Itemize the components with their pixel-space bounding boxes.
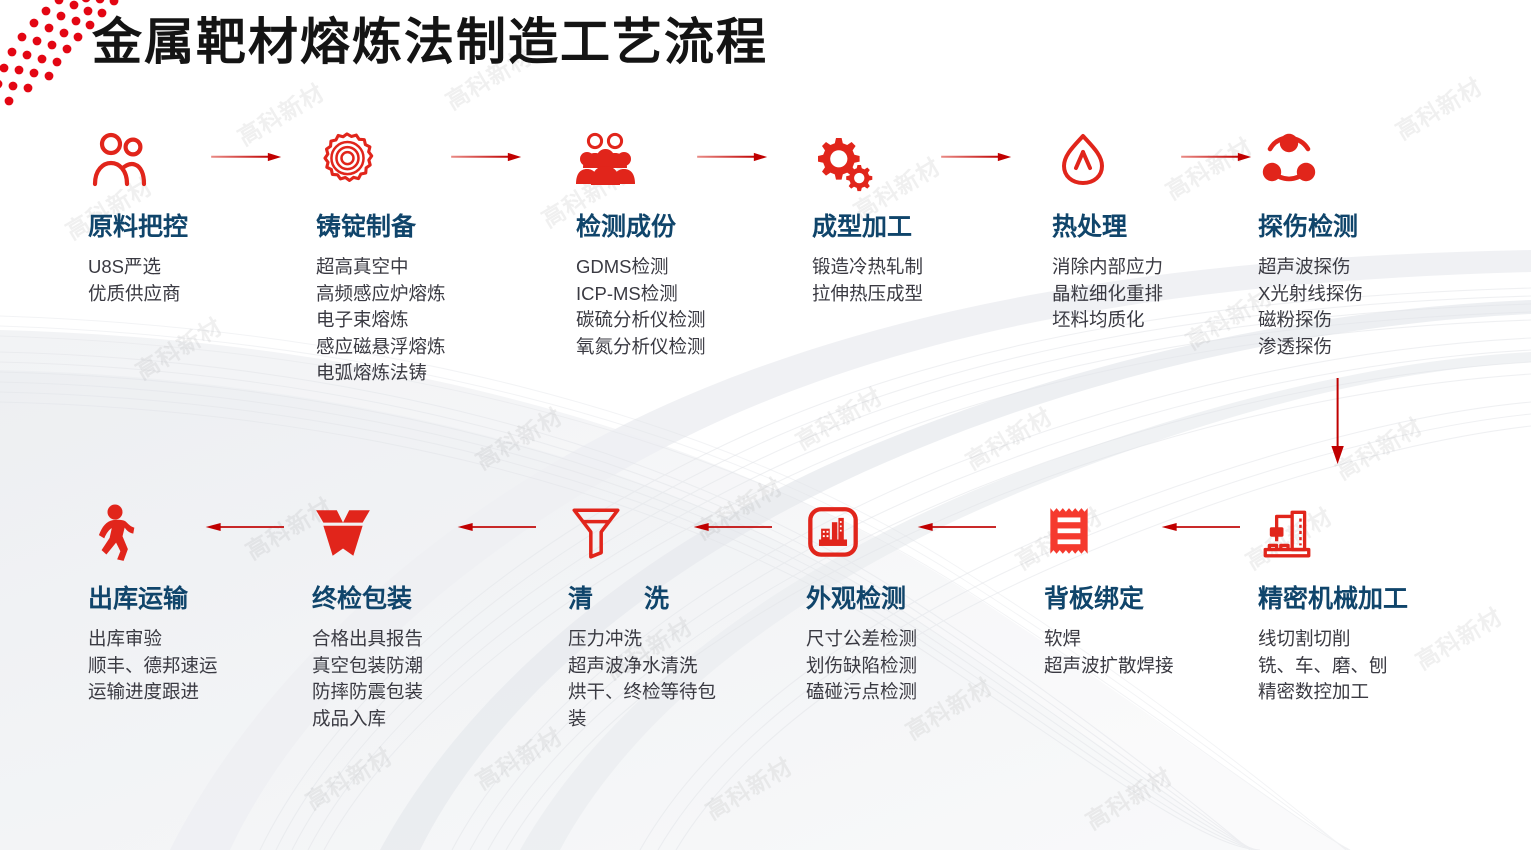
step-precision-machining[interactable]: 精密机械加工 线切割切削 铣、车、磨、刨 精密数控加工: [1258, 500, 1408, 706]
detail-line: 超声波净水清洗: [568, 653, 728, 680]
watermark: 高科新材: [958, 398, 1058, 477]
step-detail-list: 压力冲洗 超声波净水清洗 烘干、终检等待包装: [568, 626, 728, 732]
detail-line: 软焊: [1044, 626, 1174, 653]
detail-line: 磁粉探伤: [1258, 307, 1363, 334]
flowchart-poster: 高科新材 高科新材 高科新材 高科新材 高科新材 高科新材 高科新材 高科新材 …: [0, 0, 1531, 850]
watermark: 高科新材: [468, 718, 568, 797]
step-raw-material-control[interactable]: 原料把控 U8S严选 优质供应商: [88, 128, 188, 307]
detail-line: 电弧熔炼法铸: [316, 360, 446, 387]
factory-in-frame-icon: [806, 500, 917, 562]
step-title: 外观检测: [806, 579, 917, 615]
step-title: 成型加工: [812, 207, 923, 243]
step-backplate-bonding[interactable]: 背板绑定 软焊 超声波扩散焊接: [1044, 500, 1174, 679]
detail-line: 烘干、终检等待包装: [568, 679, 728, 732]
detail-line: 磕碰污点检测: [806, 679, 917, 706]
step-flaw-detection[interactable]: 探伤检测 超声波探伤 X光射线探伤 磁粉探伤 渗透探伤: [1258, 128, 1363, 360]
step-composition-testing[interactable]: 检测成份 GDMS检测 ICP-MS检测 碳硫分析仪检测 氧氮分析仪检测: [576, 128, 706, 360]
detail-line: 超声波扩散焊接: [1044, 653, 1174, 680]
step-detail-list: 尺寸公差检测 划伤缺陷检测 磕碰污点检测: [806, 626, 917, 706]
step-outbound-transport[interactable]: 出库运输 出库审验 顺丰、德邦速运 运输进度跟进: [88, 500, 218, 706]
detail-line: 合格出具报告: [312, 626, 423, 653]
arrow-right-5: [1174, 152, 1260, 162]
detail-line: 成品入库: [312, 706, 423, 733]
detail-line: 坯料均质化: [1052, 307, 1163, 334]
arrow-down-connector: [1325, 378, 1351, 468]
step-title: 出库运输: [88, 579, 218, 615]
step-cleaning[interactable]: 清 洗 压力冲洗 超声波净水清洗 烘干、终检等待包装: [568, 500, 738, 732]
people-group-icon: [576, 128, 706, 190]
detail-line: 渗透探伤: [1258, 334, 1363, 361]
step-title: 终检包装: [312, 579, 423, 615]
detail-line: 氧氮分析仪检测: [576, 334, 706, 361]
detail-line: GDMS检测: [576, 254, 706, 281]
step-title: 探伤检测: [1258, 207, 1363, 243]
funnel-icon: [568, 500, 738, 562]
bonded-plate-icon: [1044, 500, 1174, 562]
share-nodes-icon: [1258, 128, 1363, 190]
watermark: 高科新材: [298, 738, 398, 817]
detail-line: 拉伸热压成型: [812, 281, 923, 308]
step-title: 精密机械加工: [1258, 579, 1408, 615]
arrow-left-2: [908, 522, 1004, 532]
detail-line: 感应磁悬浮熔炼: [316, 334, 446, 361]
step-ingot-preparation[interactable]: 铸锭制备 超高真空中 高频感应炉熔炼 电子束熔炼 感应磁悬浮熔炼 电弧熔炼法铸: [316, 128, 446, 387]
detail-line: 铣、车、磨、刨: [1258, 653, 1408, 680]
arrow-left-4: [448, 522, 544, 532]
detail-line: 顺丰、德邦速运: [88, 653, 218, 680]
watermark: 高科新材: [1158, 128, 1258, 207]
arrow-right-4: [934, 152, 1020, 162]
step-detail-list: 超声波探伤 X光射线探伤 磁粉探伤 渗透探伤: [1258, 254, 1363, 360]
step-detail-list: 出库审验 顺丰、德邦速运 运输进度跟进: [88, 626, 218, 706]
detail-line: 高频感应炉熔炼: [316, 281, 446, 308]
step-detail-list: 消除内部应力 晶粒细化重排 坯料均质化: [1052, 254, 1163, 334]
detail-line: ICP-MS检测: [576, 281, 706, 308]
detail-line: 优质供应商: [88, 281, 188, 308]
detail-line: 尺寸公差检测: [806, 626, 917, 653]
watermark: 高科新材: [1388, 68, 1488, 147]
arrow-right-2: [444, 152, 530, 162]
flame-icon: [1052, 128, 1163, 190]
detail-line: 超声波探伤: [1258, 254, 1363, 281]
step-final-inspection-packing[interactable]: 终检包装 合格出具报告 真空包装防潮 防摔防震包装 成品入库: [312, 500, 423, 732]
watermark: 高科新材: [1408, 598, 1508, 677]
detail-line: 划伤缺陷检测: [806, 653, 917, 680]
detail-line: 锻造冷热轧制: [812, 254, 923, 281]
step-detail-list: 超高真空中 高频感应炉熔炼 电子束熔炼 感应磁悬浮熔炼 电弧熔炼法铸: [316, 254, 446, 387]
step-detail-list: 锻造冷热轧制 拉伸热压成型: [812, 254, 923, 307]
step-appearance-inspection[interactable]: 外观检测 尺寸公差检测 划伤缺陷检测 磕碰污点检测: [806, 500, 917, 706]
cnc-machine-icon: [1258, 500, 1408, 562]
step-title: 背板绑定: [1044, 579, 1174, 615]
detail-line: 晶粒细化重排: [1052, 281, 1163, 308]
step-detail-list: GDMS检测 ICP-MS检测 碳硫分析仪检测 氧氮分析仪检测: [576, 254, 706, 360]
arrow-right-1: [204, 152, 290, 162]
detail-line: 碳硫分析仪检测: [576, 307, 706, 334]
page-title: 金属靶材熔炼法制造工艺流程: [92, 2, 768, 74]
watermark: 高科新材: [468, 398, 568, 477]
detail-line: 真空包装防潮: [312, 653, 423, 680]
step-detail-list: 合格出具报告 真空包装防潮 防摔防震包装 成品入库: [312, 626, 423, 732]
watermark: 高科新材: [698, 748, 798, 827]
detail-line: 精密数控加工: [1258, 679, 1408, 706]
watermark: 高科新材: [230, 74, 330, 153]
detail-line: 防摔防震包装: [312, 679, 423, 706]
step-title: 原料把控: [88, 207, 188, 243]
step-title: 清 洗: [568, 579, 738, 615]
step-title: 铸锭制备: [316, 207, 446, 243]
two-gears-icon: [812, 128, 923, 190]
step-forming-processing[interactable]: 成型加工 锻造冷热轧制 拉伸热压成型: [812, 128, 923, 307]
step-title: 热处理: [1052, 207, 1163, 243]
two-people-icon: [88, 128, 188, 190]
detail-line: 出库审验: [88, 626, 218, 653]
detail-line: X光射线探伤: [1258, 281, 1363, 308]
step-detail-list: U8S严选 优质供应商: [88, 254, 188, 307]
detail-line: 线切割切削: [1258, 626, 1408, 653]
step-detail-list: 软焊 超声波扩散焊接: [1044, 626, 1174, 679]
detail-line: 压力冲洗: [568, 626, 728, 653]
detail-line: U8S严选: [88, 254, 188, 281]
detail-line: 电子束熔炼: [316, 307, 446, 334]
step-title: 检测成份: [576, 207, 706, 243]
detail-line: 运输进度跟进: [88, 679, 218, 706]
detail-line: 消除内部应力: [1052, 254, 1163, 281]
open-box-icon: [312, 500, 423, 562]
watermark: 高科新材: [788, 378, 888, 457]
watermark: 高科新材: [1078, 758, 1178, 837]
step-detail-list: 线切割切削 铣、车、磨、刨 精密数控加工: [1258, 626, 1408, 706]
concentric-gear-icon: [316, 128, 446, 190]
walking-person-icon: [88, 500, 218, 562]
detail-line: 超高真空中: [316, 254, 446, 281]
step-heat-treatment[interactable]: 热处理 消除内部应力 晶粒细化重排 坯料均质化: [1052, 128, 1163, 334]
watermark: 高科新材: [128, 308, 228, 387]
